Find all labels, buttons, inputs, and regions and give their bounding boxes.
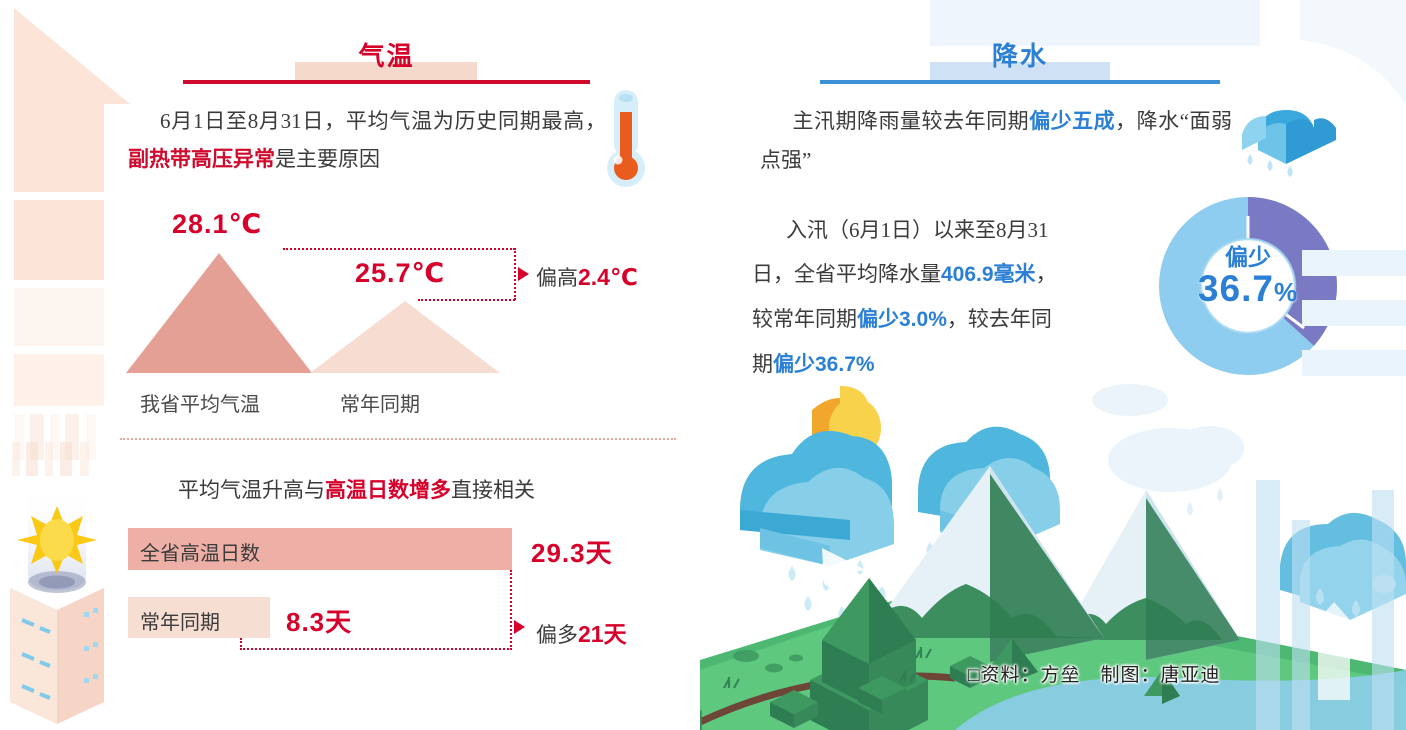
hotdays-delta-arrow-icon [514, 620, 525, 634]
sun-server-icon [0, 440, 140, 730]
hotdays-delta-prefix: 偏多 [536, 623, 578, 647]
precipitation-body-text: 入汛（6月1日）以来至8月31 日，全省平均降水量406.9毫米， 较常年同期偏… [752, 208, 1122, 387]
precip-body-line2b: 406.9毫米 [941, 263, 1036, 286]
cloud-faint-icon [1092, 384, 1244, 516]
delta-arrow-icon [518, 267, 529, 281]
precip-intro-part1: 主汛期降雨量较去年同期 [792, 109, 1029, 133]
decorative-blue-bars [1290, 250, 1406, 380]
temperature-axis-label-province: 我省平均气温 [140, 388, 260, 417]
thermometer-icon [603, 86, 649, 197]
precip-body-line3c: ，较去年同 [947, 307, 1052, 331]
temperature-axis-label-normal: 常年同期 [340, 388, 420, 417]
temperature-delta-annotation: 偏高2.4℃ [536, 262, 638, 292]
sun-cylinder-illustration [0, 440, 140, 730]
delta-bracket-bottom [418, 299, 515, 301]
precipitation-header-title: 降水 [820, 36, 1220, 73]
hotdays-text-a: 平均气温升高与 [178, 478, 325, 502]
temperature-value-province: 28.1℃ [172, 209, 262, 240]
rain-cloud-icon [1240, 98, 1346, 185]
precipitation-intro-paragraph: 主汛期降雨量较去年同期偏少五成，降水“面弱点强” [760, 102, 1232, 179]
hotdays-bracket-left [240, 638, 242, 650]
temp-intro-part2: 最高， [542, 109, 606, 133]
temperature-header-title: 气温 [183, 36, 590, 73]
temperature-delta-value: 2.4℃ [578, 264, 638, 290]
hotdays-delta-value: 21天 [578, 621, 627, 647]
temperature-delta-prefix: 偏高 [536, 266, 578, 290]
infographic-canvas: 气温 6月1日至8月31日，平均气温为历史同期最高，副热带高压异常是主要原因 2… [0, 0, 1406, 730]
hotdays-bar-label-province: 全省高温日数 [140, 537, 260, 566]
temperature-intro-paragraph: 6月1日至8月31日，平均气温为历史同期最高，副热带高压异常是主要原因 [128, 102, 606, 179]
hotdays-text-c: 直接相关 [451, 478, 535, 502]
delta-bracket-right [514, 248, 516, 300]
section-divider [120, 438, 676, 440]
hotdays-bracket-right [510, 570, 512, 650]
hotdays-value-normal: 8.3天 [286, 602, 352, 639]
triangle-bar-normal [310, 301, 500, 373]
temp-intro-part3: 是主要原因 [275, 147, 380, 171]
hotdays-value-province: 29.3天 [531, 533, 613, 570]
precip-body-line2a: 日，全省平均降水量 [752, 262, 941, 286]
hotdays-delta-annotation: 偏多21天 [536, 615, 627, 649]
temperature-value-normal: 25.7℃ [355, 258, 445, 289]
precipitation-section-header: 降水 [820, 42, 1220, 86]
hotdays-bracket-bottom [240, 648, 512, 650]
precip-intro-highlight: 偏少五成 [1029, 110, 1115, 133]
hotdays-text-b: 高温日数增多 [325, 479, 451, 502]
temperature-section-header: 气温 [183, 42, 590, 86]
temperature-header-rule [183, 80, 590, 84]
temp-intro-part1: 6月1日至8月31日，平均气温为历史同期 [160, 109, 542, 133]
precip-body-line3a: 较常年同期 [752, 307, 857, 331]
delta-bracket-top [283, 248, 515, 250]
credit-line: □资料：方垒 制图：唐亚迪 [968, 660, 1220, 687]
donut-value: 36.7 [1198, 268, 1274, 309]
precipitation-header-rule [820, 80, 1220, 84]
precip-body-line2c: ， [1036, 262, 1057, 286]
precip-body-line3b: 偏少3.0% [857, 308, 947, 331]
precip-body-line1: 入汛（6月1日）以来至8月31 [786, 218, 1049, 242]
triangle-bar-province [126, 253, 312, 373]
hotdays-subsection-heading: 平均气温升高与高温日数增多直接相关 [178, 474, 535, 504]
hotdays-bar-label-normal: 常年同期 [140, 606, 220, 635]
temp-intro-highlight: 副热带高压异常 [128, 148, 275, 171]
